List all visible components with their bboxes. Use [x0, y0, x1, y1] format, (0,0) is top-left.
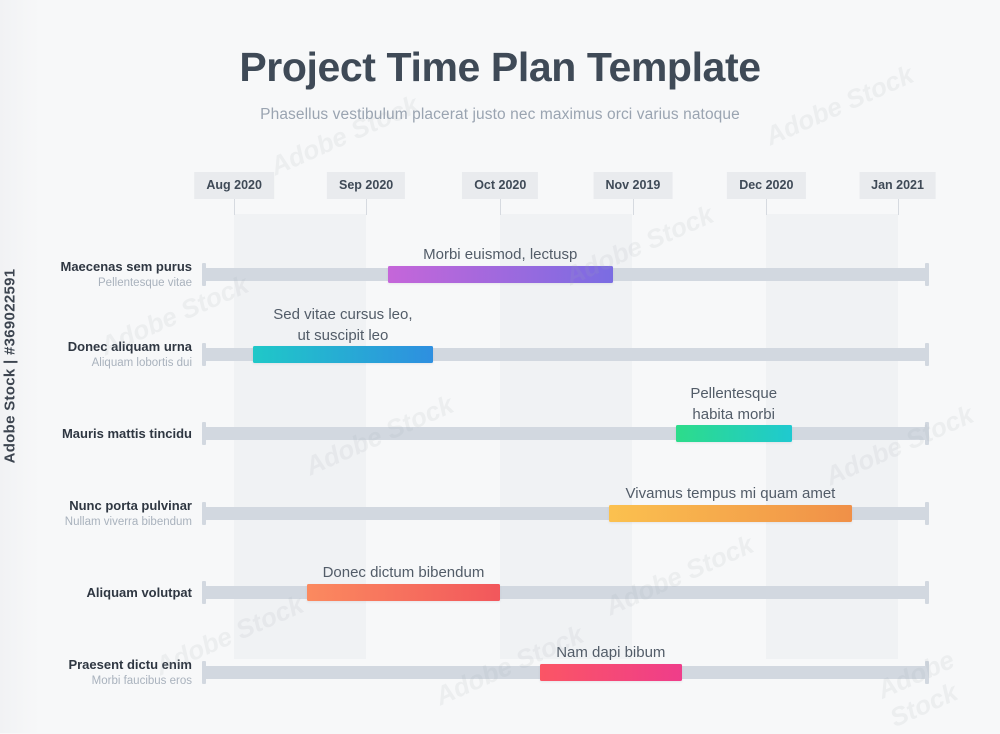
month-tick — [898, 199, 899, 215]
month-header-jan-2021[interactable]: Jan 2021 — [859, 172, 936, 199]
page-title: Project Time Plan Template — [0, 44, 1000, 91]
track-cap-right — [925, 661, 929, 684]
task-bar[interactable] — [253, 346, 433, 363]
track-cap-left — [202, 581, 206, 604]
month-header-nov-2019[interactable]: Nov 2019 — [593, 172, 672, 199]
task-bar-label: Morbi euismod, lectusp — [388, 244, 613, 265]
month-tick — [633, 199, 634, 215]
month-header-oct-2020[interactable]: Oct 2020 — [462, 172, 538, 199]
task-bar[interactable] — [307, 584, 501, 601]
month-label: Aug 2020 — [206, 178, 262, 192]
watermark-ghost: Adobe Stock — [266, 89, 424, 182]
task-bar[interactable] — [609, 505, 852, 522]
month-tick — [234, 199, 235, 215]
track-cap-left — [202, 661, 206, 684]
gantt-row: Nam dapi bibum — [203, 620, 928, 690]
month-label: Jan 2021 — [871, 178, 924, 192]
gantt-row: Vivamus tempus mi quam amet — [203, 461, 928, 531]
task-bar[interactable] — [676, 425, 792, 442]
month-tick — [366, 199, 367, 215]
month-label: Oct 2020 — [474, 178, 526, 192]
month-label: Sep 2020 — [339, 178, 393, 192]
track-cap-left — [202, 343, 206, 366]
task-bar-label: Vivamus tempus mi quam amet — [609, 483, 852, 504]
gantt-row: Sed vitae cursus leo, ut suscipit leo — [203, 302, 928, 372]
track-cap-right — [925, 263, 929, 286]
month-tick — [766, 199, 767, 215]
gantt-row: Morbi euismod, lectusp — [203, 222, 928, 292]
track-cap-right — [925, 502, 929, 525]
gantt-row: Pellentesque habita morbi — [203, 381, 928, 451]
month-label: Nov 2019 — [605, 178, 660, 192]
month-header-aug-2020[interactable]: Aug 2020 — [194, 172, 274, 199]
month-header-dec-2020[interactable]: Dec 2020 — [727, 172, 805, 199]
track-cap-right — [925, 581, 929, 604]
track-cap-left — [202, 502, 206, 525]
month-label: Dec 2020 — [739, 178, 793, 192]
month-tick — [500, 199, 501, 215]
task-bar[interactable] — [388, 266, 613, 283]
gantt-row: Donec dictum bibendum — [203, 540, 928, 610]
track-cap-left — [202, 422, 206, 445]
track-cap-right — [925, 422, 929, 445]
watermark-label: Adobe Stock | #369022591 — [2, 269, 19, 464]
track-cap-right — [925, 343, 929, 366]
page-subtitle: Phasellus vestibulum placerat justo nec … — [0, 106, 1000, 124]
gantt-timeline: Aug 2020Sep 2020Oct 2020Nov 2019Dec 2020… — [203, 172, 928, 672]
task-bar-label: Nam dapi bibum — [540, 642, 681, 663]
task-bar-label: Sed vitae cursus leo, ut suscipit leo — [253, 304, 433, 346]
task-bar-label: Donec dictum bibendum — [307, 562, 501, 583]
task-bar[interactable] — [540, 664, 681, 681]
row-track — [203, 427, 928, 440]
track-cap-left — [202, 263, 206, 286]
month-header-sep-2020[interactable]: Sep 2020 — [327, 172, 405, 199]
task-bar-label: Pellentesque habita morbi — [676, 383, 792, 425]
